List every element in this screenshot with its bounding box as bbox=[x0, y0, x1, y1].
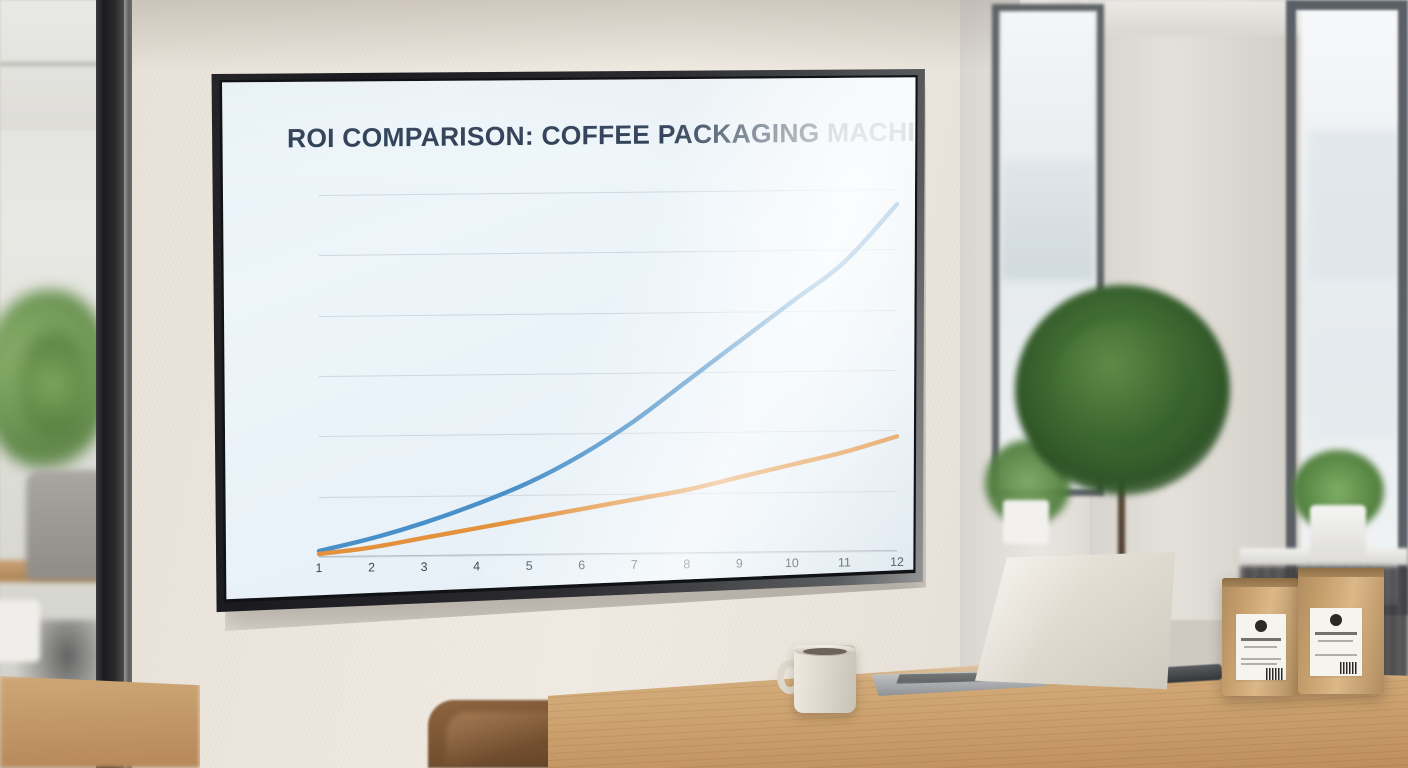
coffee-bag-right-barcode bbox=[1340, 662, 1358, 674]
plant-pot-small-right bbox=[1310, 505, 1366, 557]
chart-title: ROI COMPARISON: COFFEE PACKAGING MACHINE… bbox=[287, 117, 927, 155]
x-tick-label: 4 bbox=[473, 559, 480, 573]
x-tick-label: 12 bbox=[890, 555, 904, 569]
x-tick-label: 6 bbox=[578, 558, 585, 572]
coffee-bag-right-label-line1 bbox=[1315, 654, 1357, 656]
coffee-bag-left-seal bbox=[1222, 578, 1298, 587]
coffee-bag-left-label-line2 bbox=[1241, 663, 1277, 665]
glass-partition bbox=[0, 0, 110, 768]
coffee-bag-right-logo-icon bbox=[1330, 614, 1342, 626]
x-tick-label: 3 bbox=[421, 560, 428, 574]
coffee-bag-left-label-title bbox=[1241, 638, 1281, 641]
plant-pot-small-left bbox=[1003, 500, 1049, 544]
wall-mounted-display[interactable]: ROI COMPARISON: COFFEE PACKAGING MACHINE… bbox=[205, 60, 930, 620]
desk-left-section bbox=[0, 676, 200, 768]
x-tick-label: 5 bbox=[526, 559, 533, 573]
x-tick-label: 10 bbox=[785, 556, 799, 570]
series-lines bbox=[319, 189, 897, 557]
chart-canvas: ROI COMPARISON: COFFEE PACKAGING MACHINE… bbox=[227, 81, 917, 596]
mug-interior bbox=[803, 648, 847, 655]
coffee-bag-right-seal bbox=[1298, 568, 1384, 577]
plant-foliage-inner bbox=[1055, 320, 1195, 450]
coffee-bag-right-label-sub bbox=[1318, 640, 1353, 642]
coffee-bag-left-barcode bbox=[1266, 668, 1284, 680]
x-tick-label: 9 bbox=[736, 557, 743, 571]
office-scene: ROI COMPARISON: COFFEE PACKAGING MACHINE… bbox=[0, 0, 1408, 768]
legend-label: 30 BPM Machine bbox=[681, 618, 781, 620]
coffee-bag-left-logo-icon bbox=[1255, 620, 1267, 632]
x-tick-label: 1 bbox=[316, 561, 323, 575]
legend-item: 30 BPM Machine bbox=[632, 618, 781, 620]
coffee-bag-left-label-line1 bbox=[1241, 658, 1281, 660]
coffee-bag-right-label-title bbox=[1315, 632, 1357, 635]
plot-area bbox=[319, 189, 897, 557]
chart-legend: 60 BPM Machine30 BPM Machine bbox=[319, 617, 897, 620]
line-series-2 bbox=[319, 436, 897, 554]
x-tick-label: 7 bbox=[631, 558, 638, 572]
x-tick-label: 11 bbox=[838, 555, 851, 569]
line-series-1 bbox=[319, 204, 897, 551]
chart-title-fade: MACHINES bbox=[827, 116, 930, 148]
chart-title-main: ROI COMPARISON: COFFEE PACKAGING bbox=[287, 118, 827, 154]
x-tick-label: 8 bbox=[683, 557, 690, 571]
coffee-bag-left-label-sub bbox=[1244, 646, 1277, 648]
tv-screen[interactable]: ROI COMPARISON: COFFEE PACKAGING MACHINE… bbox=[205, 60, 930, 620]
x-tick-label: 2 bbox=[368, 560, 375, 574]
